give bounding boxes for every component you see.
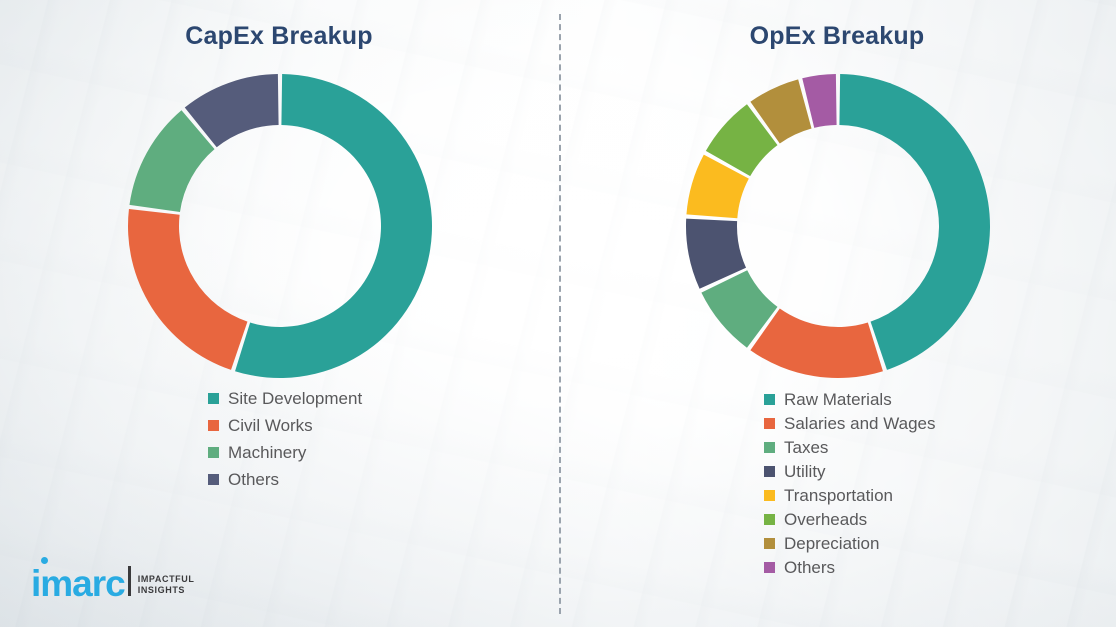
- legend-swatch-icon: [208, 420, 219, 431]
- capex-slice-group: [128, 74, 432, 378]
- capex-donut-chart: [127, 73, 433, 379]
- legend-item[interactable]: Civil Works: [208, 417, 362, 434]
- capex-donut-svg: [127, 73, 433, 379]
- legend-swatch-icon: [764, 442, 775, 453]
- legend-swatch-icon: [764, 514, 775, 525]
- capex-legend: Site DevelopmentCivil WorksMachineryOthe…: [208, 390, 362, 498]
- legend-item-label: Others: [228, 471, 279, 488]
- legend-swatch-icon: [208, 474, 219, 485]
- legend-item-label: Civil Works: [228, 417, 313, 434]
- capex-chart-title: CapEx Breakup: [0, 22, 558, 51]
- donut-slice: [128, 209, 247, 370]
- legend-item[interactable]: Raw Materials: [764, 391, 936, 408]
- legend-item[interactable]: Others: [208, 471, 362, 488]
- legend-item-label: Raw Materials: [784, 391, 892, 408]
- legend-item-label: Site Development: [228, 390, 362, 407]
- imarc-logo: imarc IMPACTFUL INSIGHTS: [31, 566, 194, 599]
- legend-item-label: Utility: [784, 463, 826, 480]
- legend-item[interactable]: Salaries and Wages: [764, 415, 936, 432]
- logo-dot-icon: [41, 557, 48, 564]
- logo-tagline-line2: INSIGHTS: [138, 585, 195, 596]
- slide-canvas: CapEx Breakup Site DevelopmentCivil Work…: [0, 0, 1116, 627]
- legend-swatch-icon: [208, 393, 219, 404]
- legend-item-label: Overheads: [784, 511, 867, 528]
- legend-item[interactable]: Utility: [764, 463, 936, 480]
- logo-divider-bar: [128, 566, 131, 596]
- legend-item-label: Depreciation: [784, 535, 879, 552]
- logo-tagline-line1: IMPACTFUL: [138, 574, 195, 585]
- legend-item[interactable]: Overheads: [764, 511, 936, 528]
- legend-item-label: Others: [784, 559, 835, 576]
- donut-slice: [750, 309, 883, 378]
- legend-item[interactable]: Depreciation: [764, 535, 936, 552]
- legend-swatch-icon: [764, 538, 775, 549]
- legend-item-label: Machinery: [228, 444, 306, 461]
- legend-swatch-icon: [208, 447, 219, 458]
- opex-chart-title: OpEx Breakup: [558, 22, 1116, 51]
- legend-swatch-icon: [764, 394, 775, 405]
- opex-donut-chart: [685, 73, 991, 379]
- opex-slice-group: [686, 74, 990, 378]
- legend-item-label: Transportation: [784, 487, 893, 504]
- opex-donut-svg: [685, 73, 991, 379]
- legend-item[interactable]: Transportation: [764, 487, 936, 504]
- legend-item-label: Taxes: [784, 439, 828, 456]
- legend-item-label: Salaries and Wages: [784, 415, 936, 432]
- capex-panel: CapEx Breakup Site DevelopmentCivil Work…: [0, 0, 558, 627]
- logo-tagline: IMPACTFUL INSIGHTS: [138, 574, 195, 597]
- legend-swatch-icon: [764, 562, 775, 573]
- legend-item[interactable]: Taxes: [764, 439, 936, 456]
- legend-item[interactable]: Site Development: [208, 390, 362, 407]
- opex-legend: Raw MaterialsSalaries and WagesTaxesUtil…: [764, 391, 936, 583]
- legend-swatch-icon: [764, 418, 775, 429]
- legend-item[interactable]: Others: [764, 559, 936, 576]
- legend-swatch-icon: [764, 466, 775, 477]
- legend-item[interactable]: Machinery: [208, 444, 362, 461]
- logo-wordmark: imarc: [31, 568, 125, 599]
- legend-swatch-icon: [764, 490, 775, 501]
